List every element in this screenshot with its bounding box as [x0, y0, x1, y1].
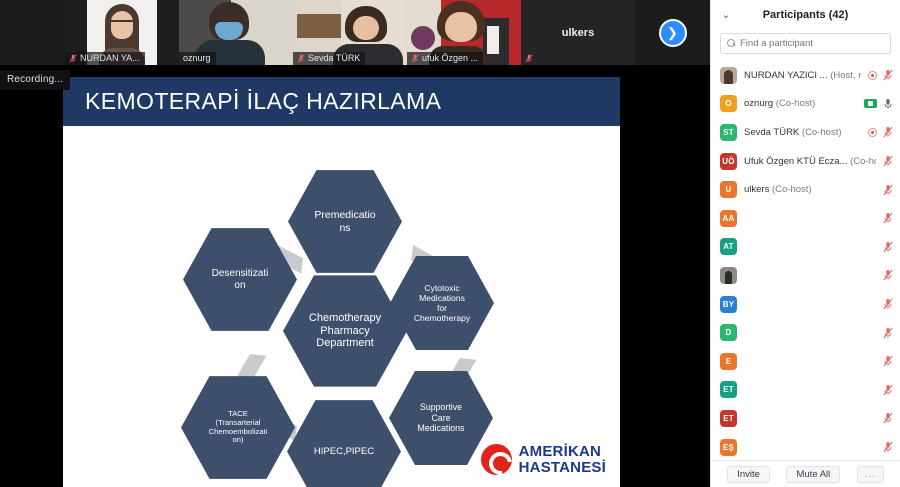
participant-name: Ufuk Özgen KTÜ Ecza... (Co-host) [744, 156, 876, 167]
mic-muted-icon[interactable] [883, 441, 893, 453]
avatar: ST [720, 124, 737, 141]
participant-name: Sevda TÜRK (Co-host) [744, 127, 861, 138]
mute-all-button[interactable]: Mute All [786, 466, 840, 483]
avatar: U [720, 181, 737, 198]
mic-muted-icon[interactable] [883, 298, 893, 310]
hex-supportive-care-medications-label: SupportiveCareMedications [418, 402, 465, 433]
participant-name: ulkers (Co-host) [744, 184, 876, 195]
participants-list[interactable]: NURDAN YAZICI ... (Host, me)Ooznurg (Co-… [711, 61, 900, 460]
hex-supportive-care-medications: SupportiveCareMedications [389, 369, 493, 467]
participant-role-tag: (Co-host) [802, 127, 842, 138]
more-options-button[interactable]: ... [857, 466, 884, 483]
avatar: UÖ [720, 153, 737, 170]
participant-row-icons [883, 298, 893, 310]
participant-row-icons [883, 327, 893, 339]
mic-muted-icon[interactable] [883, 384, 893, 396]
avatar: E [720, 353, 737, 370]
logo-text: AMERİKAN HASTANESİ [519, 444, 606, 475]
video-tile-name-badge: Sevda TÜRK [293, 52, 365, 65]
avatar: D [720, 324, 737, 341]
avatar: BY [720, 296, 737, 313]
participant-row-icons [883, 269, 893, 281]
hex-premedications: Premedications [288, 168, 402, 275]
hex-premedications-label: Premedications [314, 209, 375, 234]
participants-panel-header: ⌄ Participants (42) [711, 0, 900, 30]
slide-title-bar: KEMOTERAPİ İLAÇ HAZIRLAMA [63, 77, 620, 126]
participant-name: oznurg (Co-host) [744, 98, 857, 109]
swirl-icon [481, 444, 512, 475]
participant-row[interactable]: AT [711, 233, 900, 262]
participant-row[interactable]: ET [711, 404, 900, 433]
video-filmstrip: NURDAN YA...oznurgSevda TÜRKufuk Özgen .… [0, 0, 710, 65]
participant-row-icons [883, 412, 893, 424]
shared-screen-stage: KEMOTERAPİ İLAÇ HAZIRLAMA Premedications… [0, 65, 710, 487]
participant-name: NURDAN YAZICI ... (Host, me) [744, 70, 861, 81]
participant-row-icons [864, 98, 893, 110]
mic-muted-icon[interactable] [883, 269, 893, 281]
hex-cytotoxic-medications-label: CytotoxicMedicationsforChemotherapy [414, 283, 470, 324]
avatar: EŞ [720, 439, 737, 456]
participant-role-tag: (Co-host) [772, 184, 812, 195]
mic-muted-icon[interactable] [883, 155, 893, 167]
mic-muted-icon[interactable] [883, 212, 893, 224]
logo-line-2: HASTANESİ [519, 460, 606, 475]
hex-hipec-pipec-label: HIPEC,PIPEC [314, 446, 374, 457]
participant-row[interactable] [711, 261, 900, 290]
hexagon-diagram: Premedications Desensitization Cytotoxic… [63, 126, 620, 487]
hex-cytotoxic-medications: CytotoxicMedicationsforChemotherapy [390, 254, 494, 352]
participant-role-tag: (Host, me) [830, 70, 861, 81]
participant-row-icons [883, 184, 893, 196]
participant-row-icons [883, 241, 893, 253]
participant-row-icons [883, 212, 893, 224]
mic-muted-icon[interactable] [297, 54, 305, 63]
hex-desensitization-label: Desensitization [212, 268, 269, 292]
recording-status-icon [868, 128, 877, 137]
video-tile-name-badge [521, 53, 538, 65]
participant-row-icons [883, 155, 893, 167]
participant-row[interactable]: STSevda TÜRK (Co-host) [711, 118, 900, 147]
mic-muted-icon[interactable] [883, 412, 893, 424]
mic-muted-icon[interactable] [883, 184, 893, 196]
mic-muted-icon[interactable] [69, 54, 77, 63]
participant-row[interactable]: BY [711, 290, 900, 319]
participants-panel: ⌄ Participants (42) NURDAN YAZICI ... (H… [710, 0, 900, 487]
video-tile-name: ufuk Özgen ... [422, 53, 478, 63]
video-tile-ufuk-zgen[interactable]: ufuk Özgen ... [407, 0, 521, 65]
video-tile-ulkers[interactable]: ulkers [521, 0, 635, 65]
participant-row[interactable]: Ooznurg (Co-host) [711, 90, 900, 119]
participant-role-tag: (Co-host) [776, 98, 816, 109]
mic-muted-icon[interactable] [883, 327, 893, 339]
avatar: O [720, 95, 737, 112]
participants-footer: Invite Mute All ... [711, 460, 900, 487]
participant-row[interactable]: UÖUfuk Özgen KTÜ Ecza... (Co-host) [711, 147, 900, 176]
participant-row[interactable]: E [711, 347, 900, 376]
avatar [720, 67, 737, 84]
mic-icon[interactable] [883, 98, 893, 110]
video-tile-name: NURDAN YA... [80, 53, 140, 63]
avatar: AA [720, 210, 737, 227]
mic-muted-icon[interactable] [411, 54, 419, 63]
video-tile-name-badge: oznurg [179, 52, 216, 65]
mic-muted-icon[interactable] [883, 355, 893, 367]
avatar [720, 267, 737, 284]
avatar: ET [720, 410, 737, 427]
hex-tace: TACE(TransarterialChemoembolization) [181, 374, 295, 481]
video-tile-nurdan-ya[interactable]: NURDAN YA... [65, 0, 179, 65]
video-tile-name-badge: ufuk Özgen ... [407, 52, 483, 65]
invite-button[interactable]: Invite [727, 466, 770, 483]
hex-hipec-pipec: HIPEC,PIPEC [287, 398, 401, 487]
participant-row[interactable]: Uulkers (Co-host) [711, 175, 900, 204]
participant-search-wrap [711, 30, 900, 61]
recording-status-icon [868, 71, 877, 80]
video-tile-oznurg[interactable]: oznurg [179, 0, 293, 65]
hex-chemotherapy-pharmacy-department: ChemotherapyPharmacyDepartment [283, 273, 407, 389]
participant-row-icons [883, 384, 893, 396]
avatar: AT [720, 238, 737, 255]
video-tile-name: Sevda TÜRK [308, 53, 360, 63]
logo-line-1: AMERİKAN [519, 444, 606, 459]
volume-indicator-icon [864, 99, 877, 108]
participant-row-icons [868, 126, 893, 138]
mic-muted-icon[interactable] [883, 69, 893, 81]
slide-title: KEMOTERAPİ İLAÇ HAZIRLAMA [63, 88, 441, 115]
american-hospital-logo: AMERİKAN HASTANESİ [481, 444, 606, 475]
participant-search-box[interactable] [720, 33, 891, 54]
video-tile-name-badge: NURDAN YA... [65, 52, 145, 65]
mic-muted-icon[interactable] [883, 241, 893, 253]
filmstrip-next-area: ❯ [635, 0, 710, 65]
presentation-slide: KEMOTERAPİ İLAÇ HAZIRLAMA Premedications… [63, 77, 620, 487]
chevron-down-icon[interactable]: ⌄ [720, 9, 732, 21]
participant-row-icons [883, 355, 893, 367]
mic-muted-icon[interactable] [525, 54, 533, 63]
hex-chemotherapy-pharmacy-department-label: ChemotherapyPharmacyDepartment [309, 312, 381, 351]
chevron-right-icon[interactable]: ❯ [659, 19, 687, 47]
search-input[interactable] [740, 38, 884, 49]
participant-row[interactable]: EŞ [711, 433, 900, 460]
search-icon [727, 39, 736, 48]
video-tile-name: ulkers [521, 0, 635, 65]
zoom-meeting-window: NURDAN YA...oznurgSevda TÜRKufuk Özgen .… [0, 0, 900, 487]
participant-row[interactable]: D [711, 318, 900, 347]
video-tile-sevda-t-rk[interactable]: Sevda TÜRK [293, 0, 407, 65]
participants-title: Participants (42) [711, 9, 900, 21]
participant-role-tag: (Co-host) [850, 156, 876, 167]
video-tile-name: oznurg [183, 53, 211, 63]
mic-muted-icon[interactable] [883, 126, 893, 138]
participant-row-icons [868, 69, 893, 81]
recording-indicator: Recording... [0, 70, 70, 90]
hex-desensitization: Desensitization [183, 226, 297, 333]
filmstrip-left-pad [0, 0, 65, 65]
hex-tace-label: TACE(TransarterialChemoembolization) [209, 410, 268, 446]
participant-row[interactable]: NURDAN YAZICI ... (Host, me) [711, 61, 900, 90]
avatar: ET [720, 381, 737, 398]
participant-row-icons [883, 441, 893, 453]
participant-row[interactable]: ET [711, 376, 900, 405]
participant-row[interactable]: AA [711, 204, 900, 233]
